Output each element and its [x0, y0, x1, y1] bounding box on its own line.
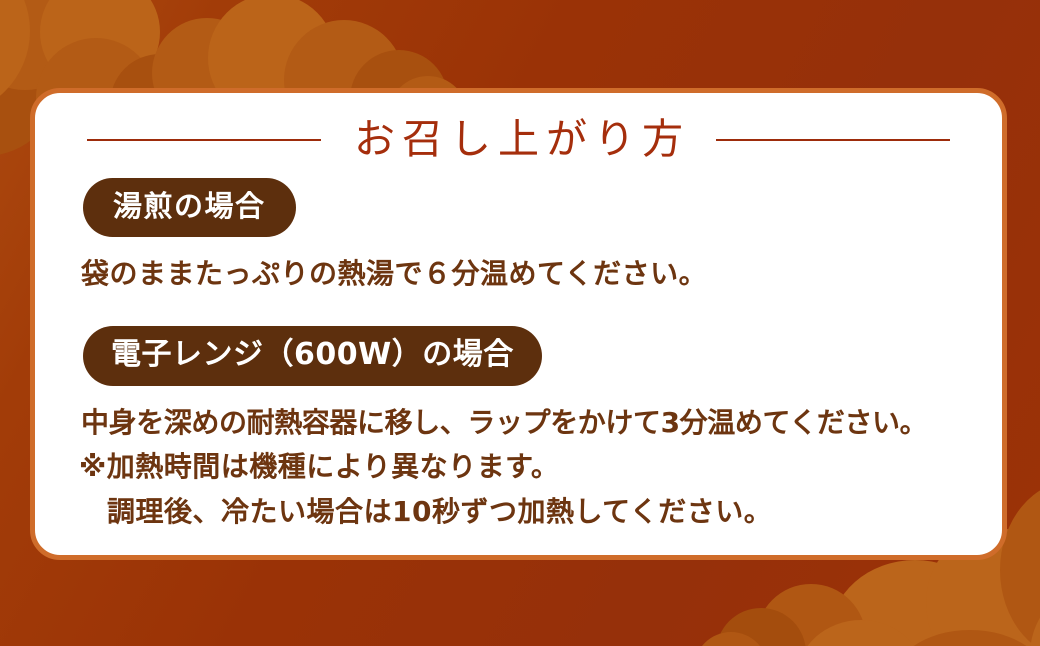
- page-title-row: お召し上がり方: [35, 117, 1002, 162]
- cloud-bump: [756, 584, 866, 646]
- cloud-bump: [796, 620, 926, 646]
- section-microwave: 電子レンジ（600W）の場合 中身を深めの耐熱容器に移し、ラップをかけて3分温め…: [79, 326, 1002, 534]
- cloud-bump: [40, 0, 160, 92]
- cloud-bump: [694, 632, 768, 646]
- cloud-bump: [1030, 580, 1040, 646]
- section-microwave-line-1: 中身を深めの耐熱容器に移し、ラップをかけて3分温めてください。: [81, 402, 1002, 445]
- cloud-bump: [716, 608, 806, 646]
- section-yusen-line-1: 袋のままたっぷりの熱湯で６分温めてください。: [81, 253, 1002, 296]
- cloud-bump: [0, 0, 30, 116]
- section-badge-yusen: 湯煎の場合: [83, 178, 296, 237]
- section-microwave-line-3: 調理後、冷たい場合は10秒ずつ加熱してください。: [79, 491, 1002, 534]
- title-rule-left: [87, 139, 321, 141]
- poster-stage: お召し上がり方 湯煎の場合 袋のままたっぷりの熱湯で６分温めてください。 電子レ…: [0, 0, 1040, 646]
- section-microwave-line-2: ※加熱時間は機種により異なります。: [79, 446, 1002, 489]
- cloud-bump: [830, 560, 1000, 646]
- section-badge-microwave: 電子レンジ（600W）の場合: [83, 326, 542, 386]
- title-rule-right: [716, 139, 950, 141]
- cloud-bump: [0, 0, 90, 90]
- instructions-card: お召し上がり方 湯煎の場合 袋のままたっぷりの熱湯で６分温めてください。 電子レ…: [30, 88, 1007, 560]
- page-title: お召し上がり方: [347, 117, 690, 162]
- section-yusen: 湯煎の場合 袋のままたっぷりの熱湯で６分温めてください。: [79, 178, 1002, 296]
- instruction-sections: 湯煎の場合 袋のままたっぷりの熱湯で６分温めてください。 電子レンジ（600W）…: [35, 162, 1002, 533]
- cloud-bump: [890, 630, 1040, 646]
